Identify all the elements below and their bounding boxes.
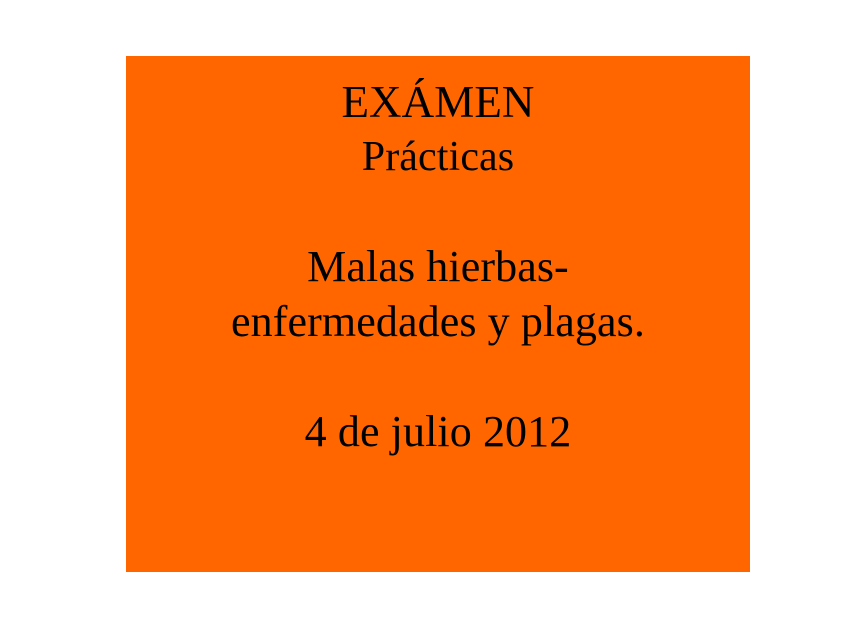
- slide-date: 4 de julio 2012: [126, 404, 750, 459]
- slide-spacer-2: [126, 349, 750, 404]
- slide-heading: EXÁMEN: [126, 74, 750, 131]
- slide-text-block: EXÁMEN Prácticas Malas hierbas- enfermed…: [126, 74, 750, 460]
- slide-spacer-1: [126, 184, 750, 239]
- slide-body-line-1: Malas hierbas-: [126, 239, 750, 294]
- slide-canvas: EXÁMEN Prácticas Malas hierbas- enfermed…: [0, 0, 848, 636]
- title-panel: EXÁMEN Prácticas Malas hierbas- enfermed…: [126, 56, 750, 572]
- slide-subheading: Prácticas: [126, 131, 750, 184]
- slide-body-line-2: enfermedades y plagas.: [126, 294, 750, 349]
